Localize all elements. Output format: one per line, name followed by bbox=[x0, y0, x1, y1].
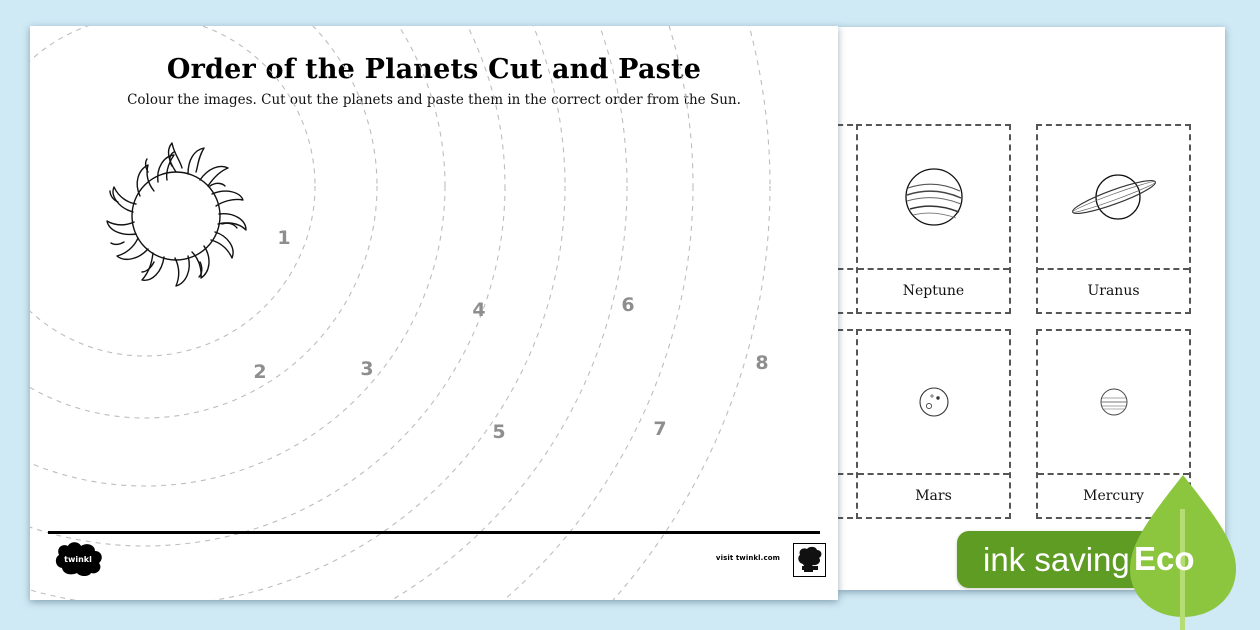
twinkl-logo: twinkl bbox=[52, 542, 106, 576]
cratered-planet-icon bbox=[916, 384, 952, 420]
striped-planet-icon bbox=[1097, 385, 1131, 419]
card-label-neptune: Neptune bbox=[858, 268, 1009, 312]
ink-saving-label: ink saving bbox=[983, 541, 1130, 579]
cut-card-uranus[interactable]: Uranus bbox=[1036, 124, 1191, 314]
eco-label: Eco bbox=[1134, 540, 1195, 578]
orbit-number-6: 6 bbox=[621, 294, 634, 316]
twinkl-splat-icon: twinkl bbox=[52, 542, 106, 576]
card-art-uranus bbox=[1038, 126, 1189, 268]
cut-card-mars[interactable]: Mars bbox=[856, 329, 1011, 519]
card-art-mars bbox=[858, 331, 1009, 473]
sun-illustration bbox=[88, 138, 263, 293]
visit-twinkl-text[interactable]: visit twinkl.com bbox=[716, 554, 780, 562]
orbit-number-8: 8 bbox=[755, 352, 768, 374]
card-label-mars: Mars bbox=[858, 473, 1009, 517]
orbit-number-4: 4 bbox=[472, 299, 485, 321]
orbit-number-1: 1 bbox=[277, 227, 290, 249]
card-art-neptune bbox=[858, 126, 1009, 268]
worksheet-page: Order of the Planets Cut and Paste Colou… bbox=[30, 26, 838, 600]
orbit-number-5: 5 bbox=[492, 421, 505, 443]
qr-code-icon bbox=[796, 546, 824, 574]
twinkl-wordmark: twinkl bbox=[64, 555, 92, 564]
footer-divider bbox=[48, 531, 820, 534]
ringed-planet-icon bbox=[1066, 162, 1162, 232]
sun-icon bbox=[88, 138, 263, 293]
orbit-number-3: 3 bbox=[360, 358, 373, 380]
orbit-arcs bbox=[30, 26, 838, 600]
twinkl-qr-badge[interactable] bbox=[793, 543, 826, 577]
card-label-uranus: Uranus bbox=[1038, 268, 1189, 312]
orbit-number-2: 2 bbox=[253, 361, 266, 383]
card-art-mercury bbox=[1038, 331, 1189, 473]
cut-card-neptune[interactable]: Neptune bbox=[856, 124, 1011, 314]
orbit-number-7: 7 bbox=[653, 418, 666, 440]
banded-planet-icon bbox=[899, 162, 969, 232]
